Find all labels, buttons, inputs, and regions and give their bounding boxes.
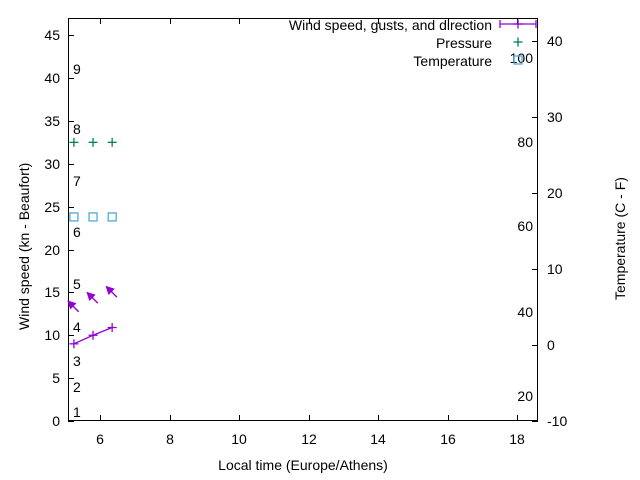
y-tick-label: 40 xyxy=(18,71,60,85)
y2-tick xyxy=(532,193,538,194)
legend-label: Temperature xyxy=(172,53,492,69)
y2-tick xyxy=(532,269,538,270)
x-tick-label: 6 xyxy=(80,432,120,446)
y-tick xyxy=(68,207,74,208)
y-tick xyxy=(68,421,74,422)
beaufort-label: 9 xyxy=(73,62,81,76)
y-tick-label: 25 xyxy=(18,200,60,214)
y2-tick-label: 40 xyxy=(547,34,563,48)
y-tick-label: 5 xyxy=(18,371,60,385)
fahrenheit-label: 60 xyxy=(498,219,533,233)
beaufort-label: 4 xyxy=(73,320,81,334)
x-tick xyxy=(170,415,171,421)
y-tick xyxy=(68,335,74,336)
y2-tick xyxy=(532,117,538,118)
y-tick xyxy=(68,164,74,165)
y-tick-label: 30 xyxy=(18,157,60,171)
y2-tick-label: 20 xyxy=(547,186,563,200)
y-tick-label: 35 xyxy=(18,114,60,128)
beaufort-label: 3 xyxy=(73,354,81,368)
x-axis-title: Local time (Europe/Athens) xyxy=(153,457,453,473)
y2-tick xyxy=(532,345,538,346)
y2-axis-title: Temperature (C - F) xyxy=(612,177,628,300)
plot-area xyxy=(68,18,538,421)
y-tick xyxy=(68,35,74,36)
fahrenheit-label: 20 xyxy=(498,389,533,403)
beaufort-label: 2 xyxy=(73,380,81,394)
fahrenheit-label: 100 xyxy=(498,51,533,65)
x-tick-top xyxy=(100,18,101,24)
x-tick-label: 8 xyxy=(150,432,190,446)
x-tick xyxy=(239,415,240,421)
legend-label: Wind speed, gusts, and direction xyxy=(172,17,492,33)
x-tick xyxy=(100,415,101,421)
beaufort-label: 1 xyxy=(73,405,81,419)
y2-tick xyxy=(532,41,538,42)
y-tick xyxy=(68,78,74,79)
y-tick-label: 20 xyxy=(18,243,60,257)
x-tick-label: 18 xyxy=(497,432,537,446)
y2-tick-label: -10 xyxy=(547,414,567,428)
y-tick-label: 15 xyxy=(18,285,60,299)
x-tick xyxy=(517,415,518,421)
fahrenheit-label: 80 xyxy=(498,135,533,149)
x-tick xyxy=(378,415,379,421)
y2-tick-label: 10 xyxy=(547,262,563,276)
y2-tick xyxy=(532,421,538,422)
x-tick xyxy=(309,415,310,421)
beaufort-label: 7 xyxy=(73,174,81,188)
x-tick-label: 12 xyxy=(289,432,329,446)
y-tick xyxy=(68,292,74,293)
y-tick-label: 0 xyxy=(18,414,60,428)
y-tick-label: 10 xyxy=(18,328,60,342)
fahrenheit-label: 40 xyxy=(498,305,533,319)
chart-canvas: Wind speed (kn - Beaufort) Temperature (… xyxy=(0,0,640,480)
x-tick-label: 10 xyxy=(219,432,259,446)
y-tick-label: 45 xyxy=(18,28,60,42)
beaufort-label: 6 xyxy=(73,225,81,239)
x-tick-top xyxy=(170,18,171,24)
y2-tick-label: 30 xyxy=(547,110,563,124)
x-tick xyxy=(448,415,449,421)
legend-label: Pressure xyxy=(172,35,492,51)
y-tick xyxy=(68,250,74,251)
beaufort-label: 8 xyxy=(73,122,81,136)
x-tick-top xyxy=(517,18,518,24)
beaufort-label: 5 xyxy=(73,277,81,291)
y2-tick-label: 0 xyxy=(547,338,555,352)
x-tick-label: 16 xyxy=(428,432,468,446)
x-tick-label: 14 xyxy=(358,432,398,446)
